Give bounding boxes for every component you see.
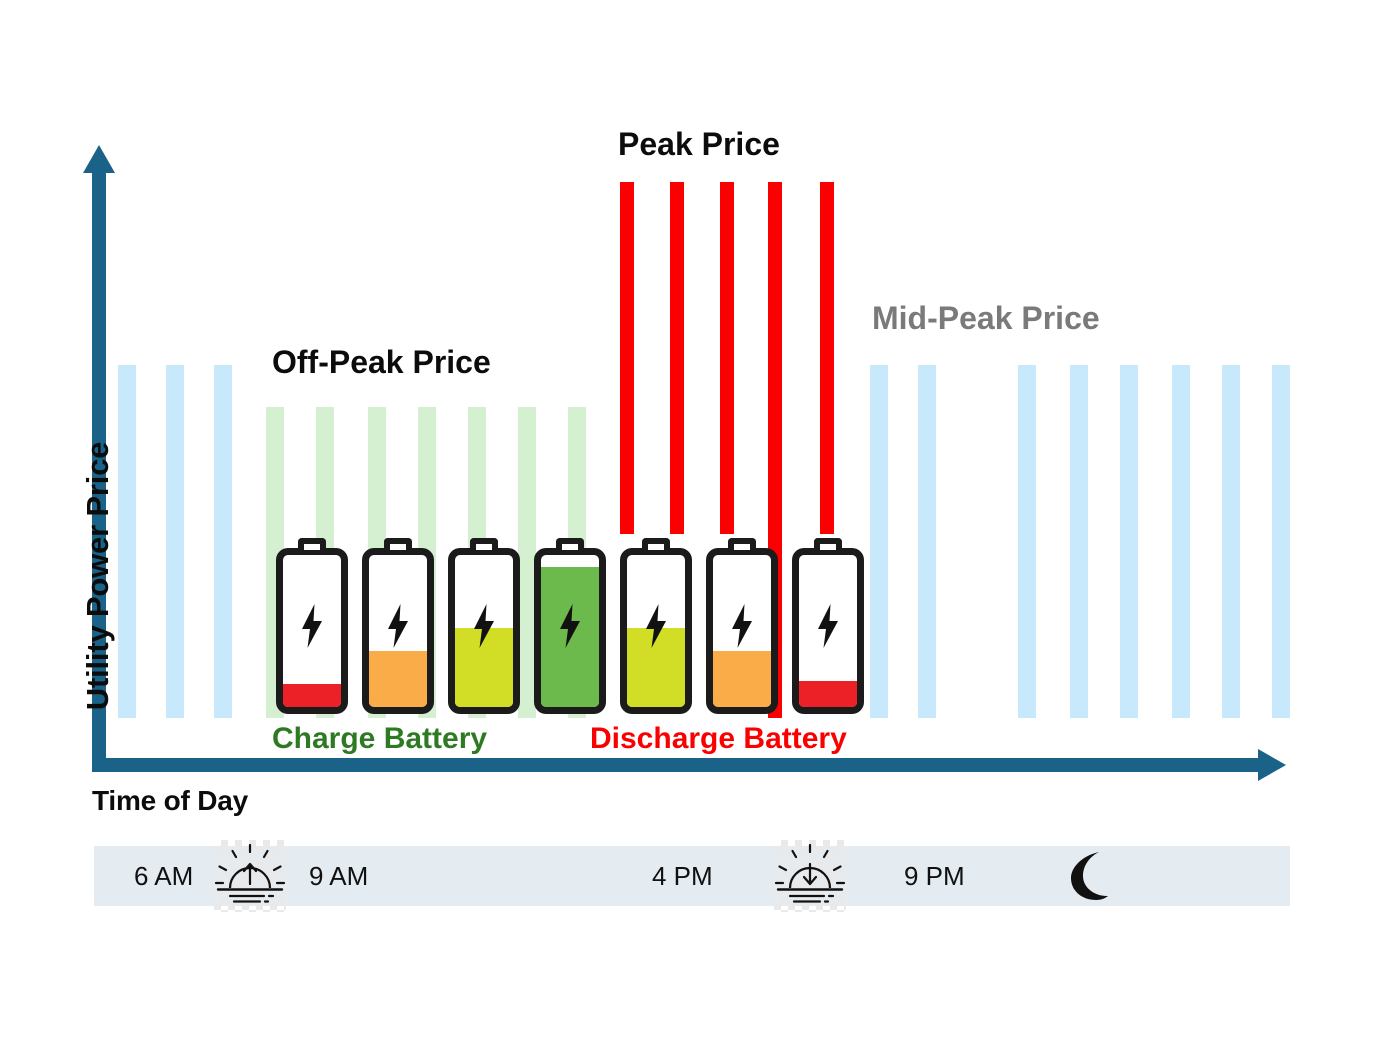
timeline-tick-9-pm: 9 PM [904,846,965,906]
discharge-battery-label: Discharge Battery [590,722,847,756]
price-bar-mid-peak-price-7 [1070,365,1088,718]
sunset-icon [774,840,846,912]
battery-2 [362,538,434,714]
timeline-tick-9-am: 9 AM [309,846,368,906]
price-bar-mid-peak-price-9 [1172,365,1190,718]
battery-body [620,548,692,714]
price-bar-mid-peak-price-11 [1272,365,1290,718]
mid-peak-price-title: Mid-Peak Price [872,300,1100,337]
battery-terminal-icon [384,538,412,550]
sunrise-icon [214,840,286,912]
tou-price-battery-diagram: Utility Power Price Time of Day Off-Peak… [0,0,1376,1038]
battery-4 [534,538,606,714]
price-bar-mid-peak-price-2 [166,365,184,718]
battery-terminal-icon [470,538,498,550]
price-bar-peak-price-3 [720,182,734,534]
battery-body [706,548,778,714]
timeline-time-label: 4 PM [652,861,713,892]
battery-5 [620,538,692,714]
battery-fill-level [713,651,771,707]
battery-fill-level [541,567,599,707]
battery-3 [448,538,520,714]
battery-terminal-icon [814,538,842,550]
battery-body [362,548,434,714]
battery-6 [706,538,778,714]
moon-icon [1049,840,1121,912]
battery-fill-level [283,684,341,707]
price-bar-peak-price-1 [620,182,634,534]
peak-price-title: Peak Price [618,126,780,163]
x-axis-arrowhead-icon [1258,749,1286,781]
price-bar-peak-price-5 [820,182,834,534]
battery-fill-level [627,628,685,707]
timeline-time-label: 6 AM [134,861,193,892]
price-bar-mid-peak-price-3 [214,365,232,718]
y-axis-arrowhead-icon [83,145,115,173]
battery-7 [792,538,864,714]
price-bar-mid-peak-price-1 [118,365,136,718]
battery-terminal-icon [642,538,670,550]
timeline-tick-6-am: 6 AM [134,846,193,906]
price-bar-peak-price-2 [670,182,684,534]
off-peak-price-title: Off-Peak Price [272,344,491,381]
price-bar-mid-peak-price-5 [918,365,936,718]
charge-battery-label: Charge Battery [272,722,487,756]
battery-body [792,548,864,714]
battery-body [276,548,348,714]
price-bar-mid-peak-price-6 [1018,365,1036,718]
timeline-tick-4-pm: 4 PM [652,846,713,906]
y-axis-label: Utility Power Price [80,416,116,736]
price-bar-mid-peak-price-8 [1120,365,1138,718]
battery-1 [276,538,348,714]
timeline-time-label: 9 PM [904,861,965,892]
x-axis-label: Time of Day [92,785,248,817]
battery-body [448,548,520,714]
battery-terminal-icon [298,538,326,550]
battery-fill-level [799,681,857,707]
battery-fill-level [369,651,427,707]
battery-terminal-icon [728,538,756,550]
price-bar-mid-peak-price-10 [1222,365,1240,718]
battery-terminal-icon [556,538,584,550]
timeline-time-label: 9 AM [309,861,368,892]
battery-body [534,548,606,714]
battery-fill-level [455,628,513,707]
x-axis-line [92,758,1264,772]
price-bar-mid-peak-price-4 [870,365,888,718]
time-of-day-timeline: 6 AM9 AM4 PM9 PM [94,846,1290,906]
